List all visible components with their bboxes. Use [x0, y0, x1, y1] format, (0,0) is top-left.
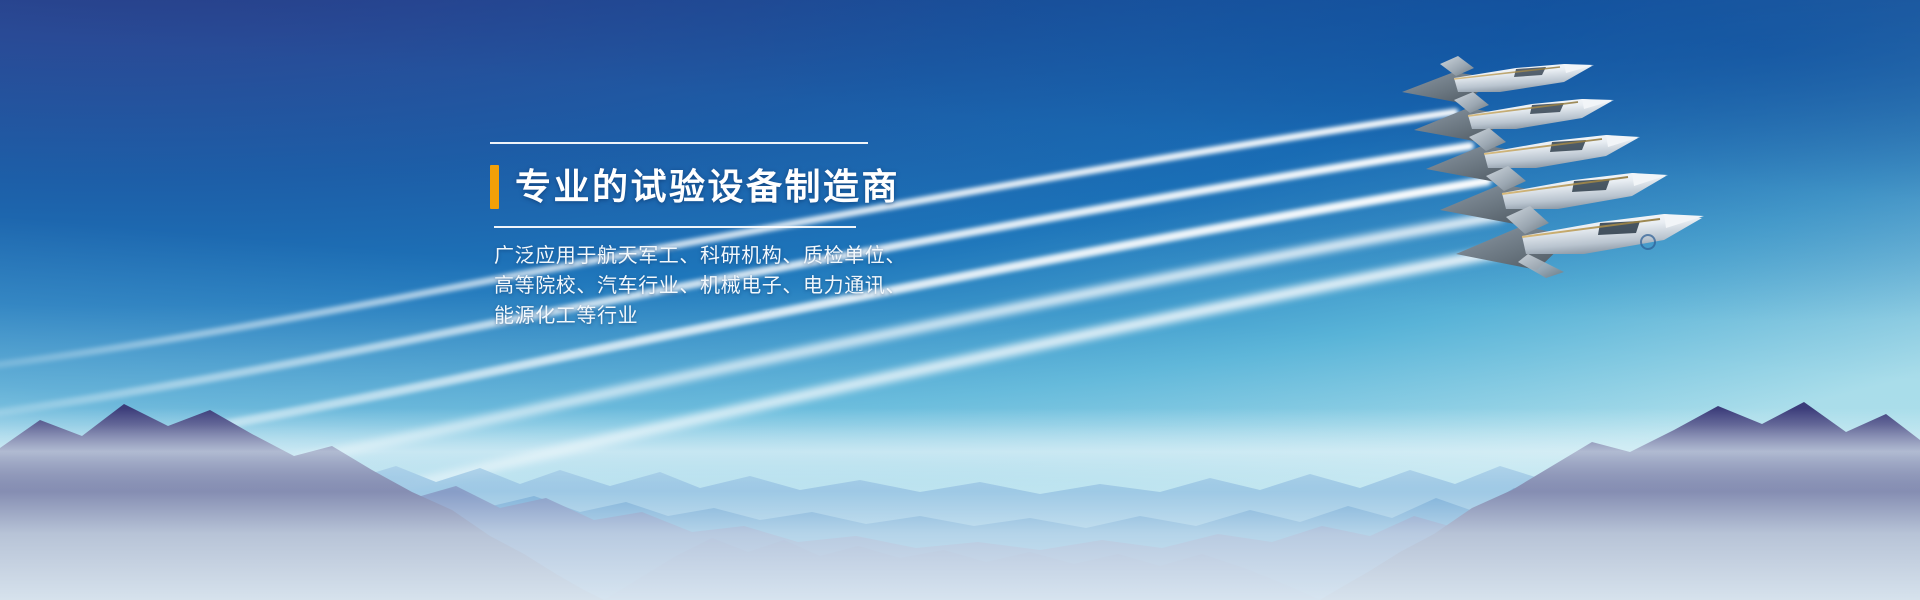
fighter-jet-formation — [1396, 38, 1866, 288]
mountain-range-group — [0, 340, 1920, 600]
divider-bottom — [494, 226, 856, 228]
jet-1 — [1402, 56, 1594, 104]
page-title: 专业的试验设备制造商 — [515, 165, 900, 209]
accent-bar-icon — [490, 165, 499, 209]
subtitle-line-2: 高等院校、汽车行业、机械电子、电力通讯、 — [494, 271, 890, 301]
divider-top — [490, 142, 868, 144]
subtitle-line-1: 广泛应用于航天军工、科研机构、质检单位、 — [494, 241, 890, 271]
headline-row: 专业的试验设备制造商 — [490, 156, 890, 218]
hero-banner: 专业的试验设备制造商 广泛应用于航天军工、科研机构、质检单位、 高等院校、汽车行… — [0, 0, 1920, 600]
subtitle-line-3: 能源化工等行业 — [494, 301, 890, 331]
subtitle-block: 广泛应用于航天军工、科研机构、质检单位、 高等院校、汽车行业、机械电子、电力通讯… — [494, 241, 890, 331]
banner-copy-block: 专业的试验设备制造商 广泛应用于航天军工、科研机构、质检单位、 高等院校、汽车行… — [490, 142, 890, 331]
